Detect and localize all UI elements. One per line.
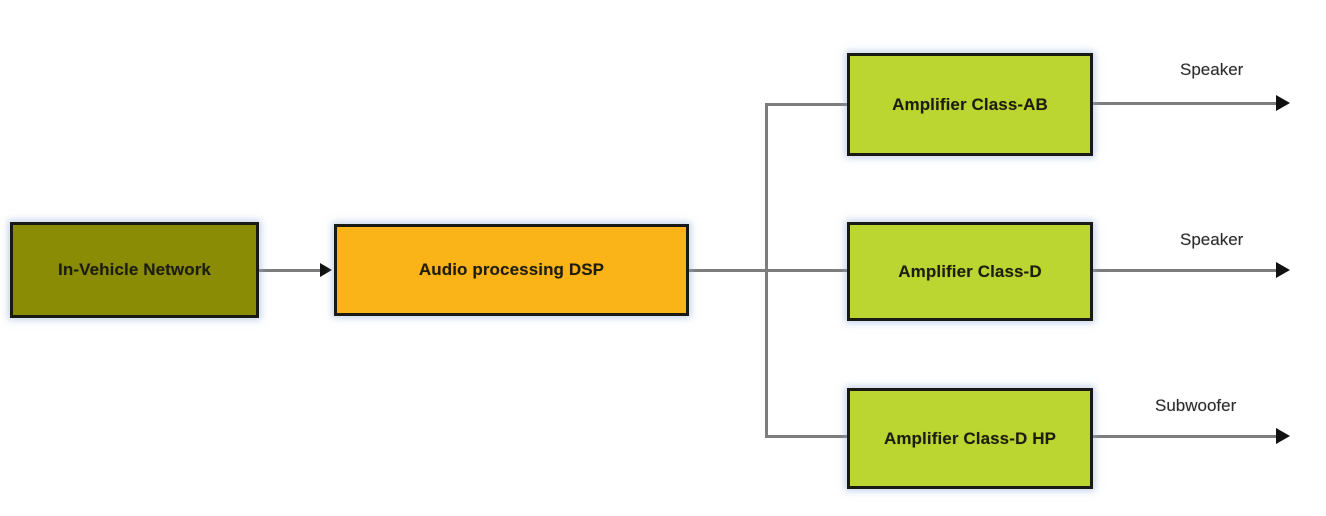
output-label-speaker-ab: Speaker <box>1180 60 1243 80</box>
block-label-audio-processing-dsp: Audio processing DSP <box>419 260 604 280</box>
arrowhead-network-to-dsp <box>320 263 332 277</box>
arrowhead-speaker-d <box>1276 262 1290 278</box>
block-label-amplifier-class-d-hp: Amplifier Class-D HP <box>884 429 1056 449</box>
block-amplifier-class-d-hp[interactable]: Amplifier Class-D HP <box>847 388 1093 489</box>
block-amplifier-class-d[interactable]: Amplifier Class-D <box>847 222 1093 321</box>
block-amplifier-class-ab[interactable]: Amplifier Class-AB <box>847 53 1093 156</box>
diagram-canvas: In-Vehicle Network Audio processing DSP … <box>0 0 1326 516</box>
arrowhead-subwoofer <box>1276 428 1290 444</box>
connector-bus-to-amp-ab <box>765 103 849 106</box>
connector-network-to-dsp <box>259 269 321 272</box>
block-label-amplifier-class-ab: Amplifier Class-AB <box>892 95 1048 115</box>
connector-amp-d-to-speaker <box>1093 269 1278 272</box>
connector-amp-ab-to-speaker <box>1093 102 1278 105</box>
output-label-subwoofer: Subwoofer <box>1155 396 1236 416</box>
block-audio-processing-dsp[interactable]: Audio processing DSP <box>334 224 689 316</box>
connector-bus-to-amp-d-hp <box>765 435 849 438</box>
connector-dsp-output-stub <box>689 269 847 272</box>
connector-fanout-bus <box>765 103 768 438</box>
connector-amp-d-hp-to-subwoofer <box>1093 435 1278 438</box>
arrowhead-speaker-ab <box>1276 95 1290 111</box>
output-label-speaker-d: Speaker <box>1180 230 1243 250</box>
block-in-vehicle-network[interactable]: In-Vehicle Network <box>10 222 259 318</box>
block-label-amplifier-class-d: Amplifier Class-D <box>898 262 1041 282</box>
block-label-in-vehicle-network: In-Vehicle Network <box>58 260 211 280</box>
